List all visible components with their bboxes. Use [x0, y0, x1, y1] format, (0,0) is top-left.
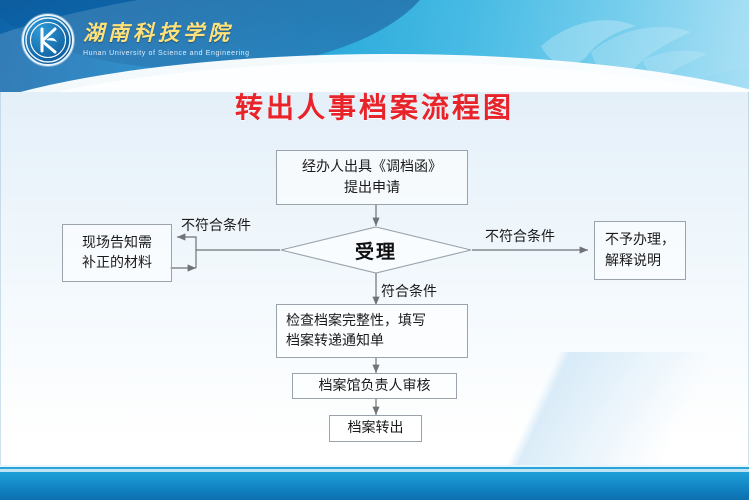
flowchart: 经办人出具《调档函》 提出申请 受理 现场告知需 补正的材料 不予办理， 解释说… — [0, 0, 749, 500]
slide-left-edge — [0, 92, 1, 467]
node-check: 检查档案完整性，填写 档案转递通知单 — [276, 304, 468, 358]
node-reject-line1: 不予办理， — [605, 230, 675, 250]
edge-label-pass: 符合条件 — [381, 281, 437, 301]
edge-accept-to-notify — [177, 237, 280, 250]
node-accept-label: 受理 — [355, 237, 397, 264]
node-apply: 经办人出具《调档函》 提出申请 — [276, 150, 468, 205]
node-notify: 现场告知需 补正的材料 — [62, 224, 172, 282]
node-notify-line1: 现场告知需 — [82, 233, 152, 253]
node-review-label: 档案馆负责人审核 — [319, 376, 431, 396]
node-apply-line1: 经办人出具《调档函》 — [302, 157, 442, 177]
node-transfer: 档案转出 — [329, 415, 422, 442]
node-check-line2: 档案转递通知单 — [286, 331, 384, 351]
slide-canvas: 湖南科技学院 Hunan University of Science and E… — [0, 0, 749, 500]
node-notify-line2: 补正的材料 — [82, 253, 152, 273]
footer-band — [0, 472, 749, 500]
edge-label-right-fail: 不符合条件 — [485, 226, 555, 246]
node-transfer-label: 档案转出 — [348, 418, 404, 438]
node-accept: 受理 — [280, 226, 472, 274]
node-reject: 不予办理， 解释说明 — [594, 221, 686, 280]
node-reject-line2: 解释说明 — [605, 251, 661, 271]
edge-label-left-fail: 不符合条件 — [181, 215, 251, 235]
node-apply-line2: 提出申请 — [344, 178, 400, 198]
node-review: 档案馆负责人审核 — [292, 373, 457, 399]
node-check-line1: 检查档案完整性，填写 — [286, 311, 426, 331]
